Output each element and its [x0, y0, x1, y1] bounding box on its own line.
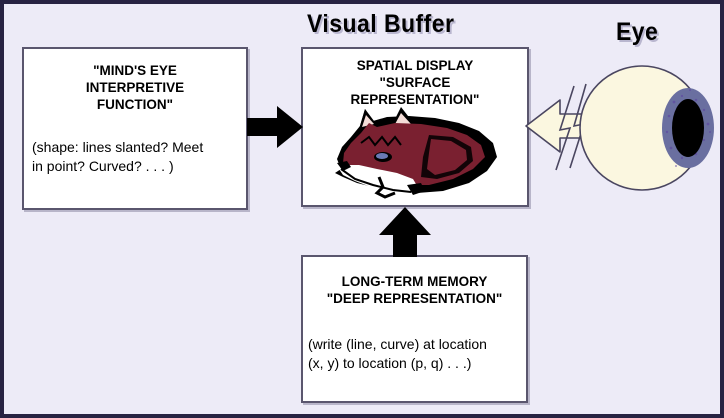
box-long-term-memory-body: (write (line, curve) at location (x, y) … — [308, 335, 526, 373]
box-minds-eye-heading: "MIND'S EYE INTERPRETIVE FUNCTION" — [34, 62, 236, 113]
box-long-term-memory-deep-representation: LONG-TERM MEMORY "DEEP REPRESENTATION" (… — [301, 255, 528, 403]
eyeball-pupil — [672, 99, 704, 157]
box-minds-eye-interpretive-function: "MIND'S EYE INTERPRETIVE FUNCTION" (shap… — [22, 47, 248, 210]
eye-diagram-group — [524, 44, 724, 209]
box-long-term-memory-heading: LONG-TERM MEMORY "DEEP REPRESENTATION" — [309, 273, 520, 307]
arrow-up-icon — [377, 207, 433, 257]
eye-title: Eye — [616, 18, 658, 47]
visual-buffer-title: Visual Buffer — [307, 10, 454, 39]
fox-head-mascot-icon — [321, 107, 513, 199]
box-minds-eye-body: (shape: lines slanted? Meet in point? Cu… — [32, 138, 246, 176]
box-spatial-display-surface-representation: SPATIAL DISPLAY "SURFACE REPRESENTATION" — [301, 47, 529, 207]
box-spatial-display-heading: SPATIAL DISPLAY "SURFACE REPRESENTATION" — [311, 57, 519, 108]
arrow-right-icon — [247, 103, 303, 151]
diagram-canvas: Visual Buffer Eye "MIND'S EYE INTERPRETI… — [0, 0, 724, 418]
